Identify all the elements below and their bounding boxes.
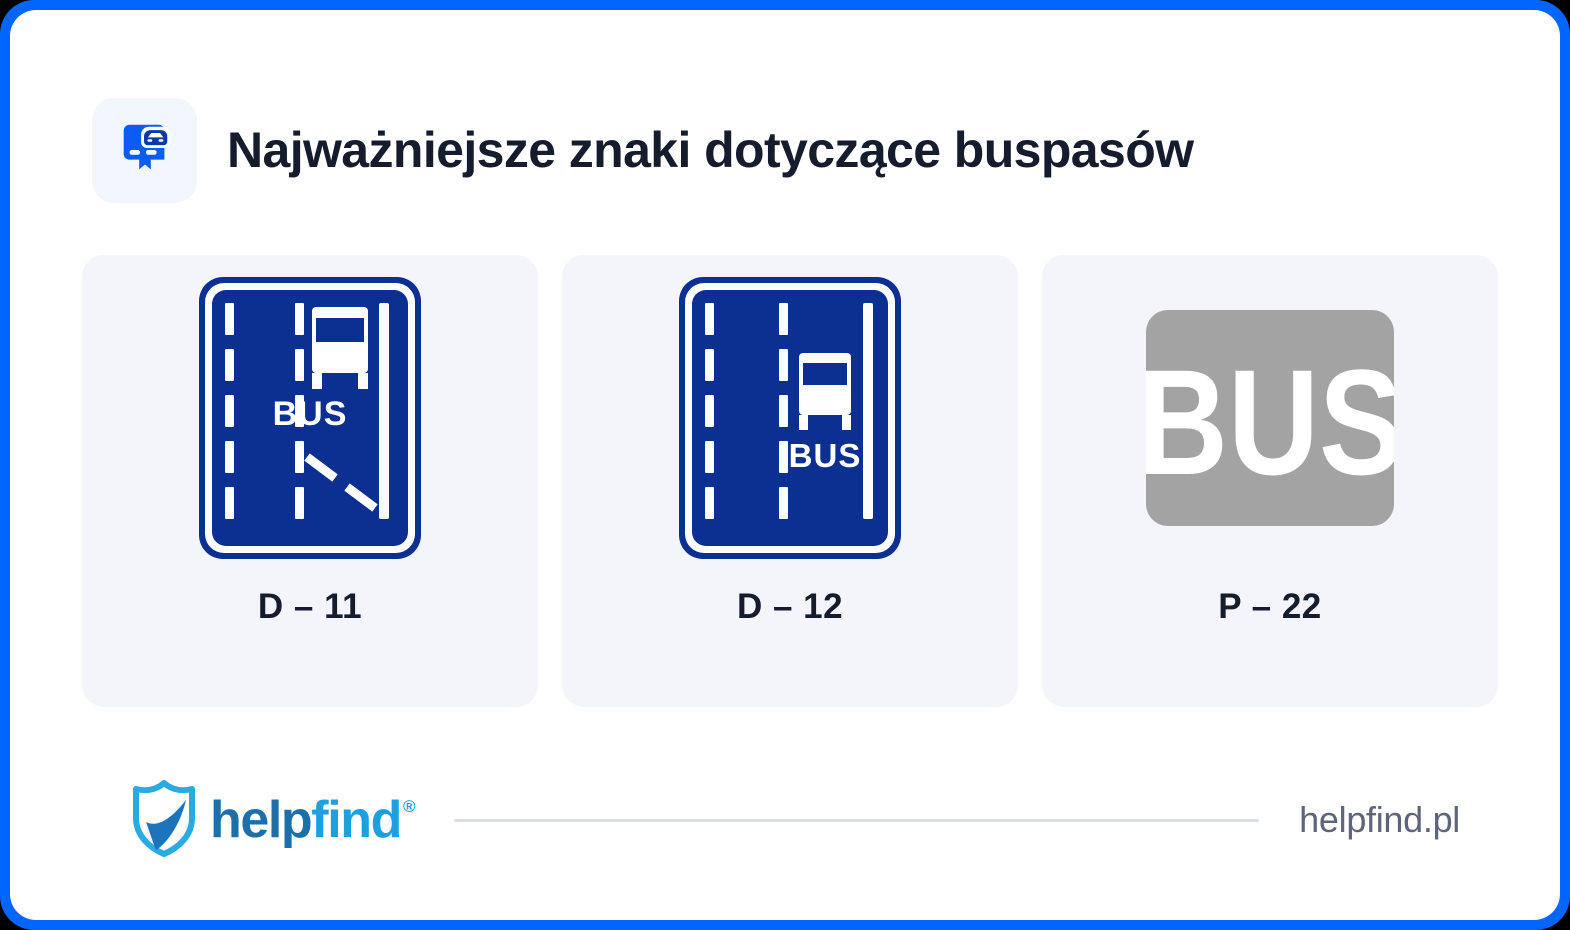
header: Najważniejsze znaki dotyczące buspasów bbox=[92, 98, 1193, 203]
svg-text:BUS: BUS bbox=[1146, 339, 1394, 506]
sign-card-d-12: BUS D – 12 bbox=[562, 255, 1018, 707]
helpfind-logo[interactable]: helpfind® bbox=[128, 778, 414, 863]
svg-text:BUS: BUS bbox=[273, 395, 348, 433]
sign-label-d-12: D – 12 bbox=[737, 587, 843, 627]
sign-label-p-22: P – 22 bbox=[1218, 587, 1322, 627]
registered-mark: ® bbox=[403, 798, 414, 815]
car-document-icon bbox=[114, 117, 176, 184]
sign-card-d-11: BUS D – 11 bbox=[82, 255, 538, 707]
sign-art-d-12: BUS bbox=[562, 255, 1018, 585]
footer: helpfind® helpfind.pl bbox=[128, 768, 1460, 872]
road-sign-d12-icon: BUS bbox=[677, 275, 903, 566]
shield-check-icon bbox=[128, 778, 200, 863]
sign-art-d-11: BUS bbox=[82, 255, 538, 585]
road-sign-d11-icon: BUS bbox=[197, 275, 423, 566]
sign-label-d-11: D – 11 bbox=[258, 587, 362, 627]
svg-text:BUS: BUS bbox=[789, 437, 862, 474]
page-title: Najważniejsze znaki dotyczące buspasów bbox=[227, 124, 1193, 177]
brand-word-help: help bbox=[210, 794, 311, 846]
footer-divider bbox=[454, 819, 1259, 822]
sign-art-p-22: BUS bbox=[1042, 255, 1498, 585]
infographic-card: Najważniejsze znaki dotyczące buspasów bbox=[10, 10, 1560, 920]
infographic-outer-frame: Najważniejsze znaki dotyczące buspasów bbox=[0, 0, 1570, 930]
road-marking-p22-icon: BUS bbox=[1146, 310, 1394, 531]
brand-word-find: find bbox=[311, 794, 401, 846]
sign-card-p-22: BUS P – 22 bbox=[1042, 255, 1498, 707]
helpfind-wordmark: helpfind® bbox=[210, 794, 414, 846]
footer-domain[interactable]: helpfind.pl bbox=[1299, 799, 1460, 841]
signs-row: BUS D – 11 bbox=[82, 255, 1498, 707]
header-icon-tile bbox=[92, 98, 197, 203]
